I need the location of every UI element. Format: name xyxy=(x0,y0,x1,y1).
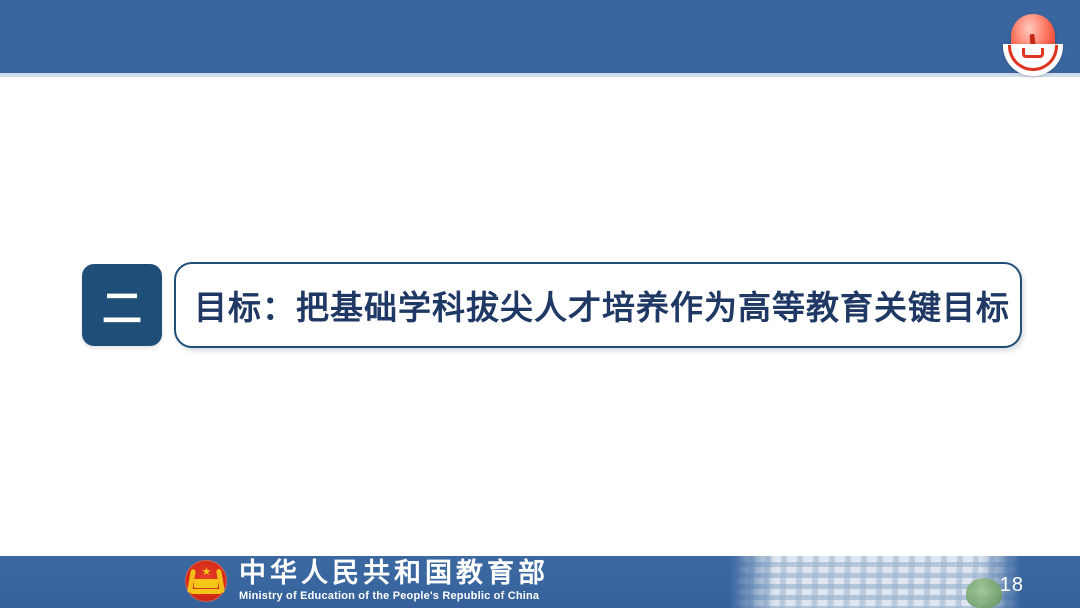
logo-bowl-slot-shape xyxy=(1022,48,1044,58)
headline-box: 目标：把基础学科拔尖人才培养作为高等教育关键目标 xyxy=(174,262,1022,348)
footer-titles: 中华人民共和国教育部 Ministry of Education of the … xyxy=(239,559,549,604)
headline-title: 目标：把基础学科拔尖人才培养作为高等教育关键目标 xyxy=(176,281,1020,329)
organization-name-en: Ministry of Education of the People's Re… xyxy=(239,589,549,603)
header-bar xyxy=(0,0,1080,73)
page-number: 18 xyxy=(1000,574,1024,597)
footer-brand: 中华人民共和国教育部 Ministry of Education of the … xyxy=(185,557,549,605)
slide: 二 目标：把基础学科拔尖人才培养作为高等教育关键目标 中华人民共和国教育部 Mi… xyxy=(0,0,1080,608)
organization-logo-icon xyxy=(1002,14,1064,78)
section-number-badge: 二 xyxy=(82,264,162,346)
headline-row: 二 目标：把基础学科拔尖人才培养作为高等教育关键目标 xyxy=(82,262,1022,348)
organization-name-cn: 中华人民共和国教育部 xyxy=(239,559,549,587)
tree-decoration-icon xyxy=(966,578,1002,608)
emblem-gate-shape xyxy=(194,579,218,588)
footer-bar: 中华人民共和国教育部 Ministry of Education of the … xyxy=(0,556,1080,608)
national-emblem-icon xyxy=(185,560,227,602)
emblem-base-shape xyxy=(191,589,221,594)
header-underline xyxy=(0,73,1080,77)
emblem-star-shape xyxy=(202,567,211,576)
